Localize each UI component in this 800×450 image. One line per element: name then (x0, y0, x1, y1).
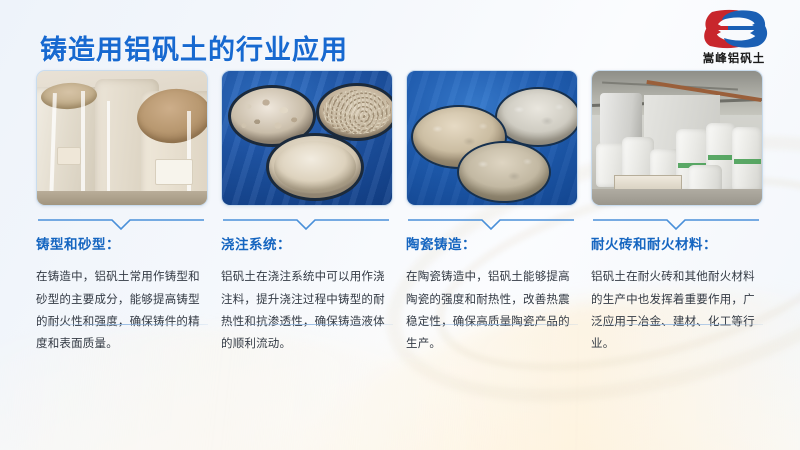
column-ceramic-casting: 陶瓷铸造： 在陶瓷铸造中，铝矾土能够提高陶瓷的强度和耐热性，改善热震稳定性，确保… (406, 70, 576, 356)
column-heading-1: 铸型和砂型： (36, 237, 206, 253)
column-body-3: 在陶瓷铸造中，铝矾土能够提高陶瓷的强度和耐热性，改善热震稳定性，确保高质量陶瓷产… (406, 266, 574, 356)
column-heading-2: 浇注系统： (221, 237, 391, 253)
column-heading-4: 耐火砖和耐火材料： (591, 237, 761, 253)
column-body-1: 在铸造中，铝矾土常用作铸型和砂型的主要成分，能够提高铸型的耐火性和强度，确保铸件… (36, 266, 204, 356)
infographic-page: 铸造用铝矾土的行业应用 嵩峰铝矾土 (0, 0, 800, 450)
column-underline-2 (225, 324, 393, 325)
divider-chevron-1 (36, 215, 206, 233)
column-pouring-system: 浇注系统： 铝矾土在浇注系统中可以用作浇注料，提升浇注过程中铸型的耐热性和抗渗透… (221, 70, 391, 356)
divider-chevron-2 (221, 215, 391, 233)
photo-powder-trays (407, 71, 577, 205)
photo-warehouse (592, 71, 762, 205)
card-image-2 (221, 70, 393, 206)
photo-bulk-bags (37, 71, 207, 205)
card-image-4 (591, 70, 763, 206)
column-body-4: 铝矾土在耐火砖和其他耐火材料的生产中也发挥着重要作用，广泛应用于冶金、建材、化工… (591, 266, 759, 356)
photo-bauxite-bowls (222, 71, 392, 205)
column-body-2: 铝矾土在浇注系统中可以用作浇注料，提升浇注过程中铸型的耐热性和抗渗透性，确保铸造… (221, 266, 389, 356)
card-image-3 (406, 70, 578, 206)
divider-chevron-4 (591, 215, 761, 233)
column-refractory-materials: 耐火砖和耐火材料： 铝矾土在耐火砖和其他耐火材料的生产中也发挥着重要作用，广泛应… (591, 70, 761, 356)
column-underline-3 (410, 324, 578, 325)
column-underline-4 (595, 324, 763, 325)
columns-container: 铸型和砂型： 在铸造中，铝矾土常用作铸型和砂型的主要成分，能够提高铸型的耐火性和… (0, 0, 800, 450)
column-underline-1 (40, 324, 208, 325)
column-heading-3: 陶瓷铸造： (406, 237, 576, 253)
divider-chevron-3 (406, 215, 576, 233)
column-molding-sand-casting: 铸型和砂型： 在铸造中，铝矾土常用作铸型和砂型的主要成分，能够提高铸型的耐火性和… (36, 70, 206, 356)
card-image-1 (36, 70, 208, 206)
